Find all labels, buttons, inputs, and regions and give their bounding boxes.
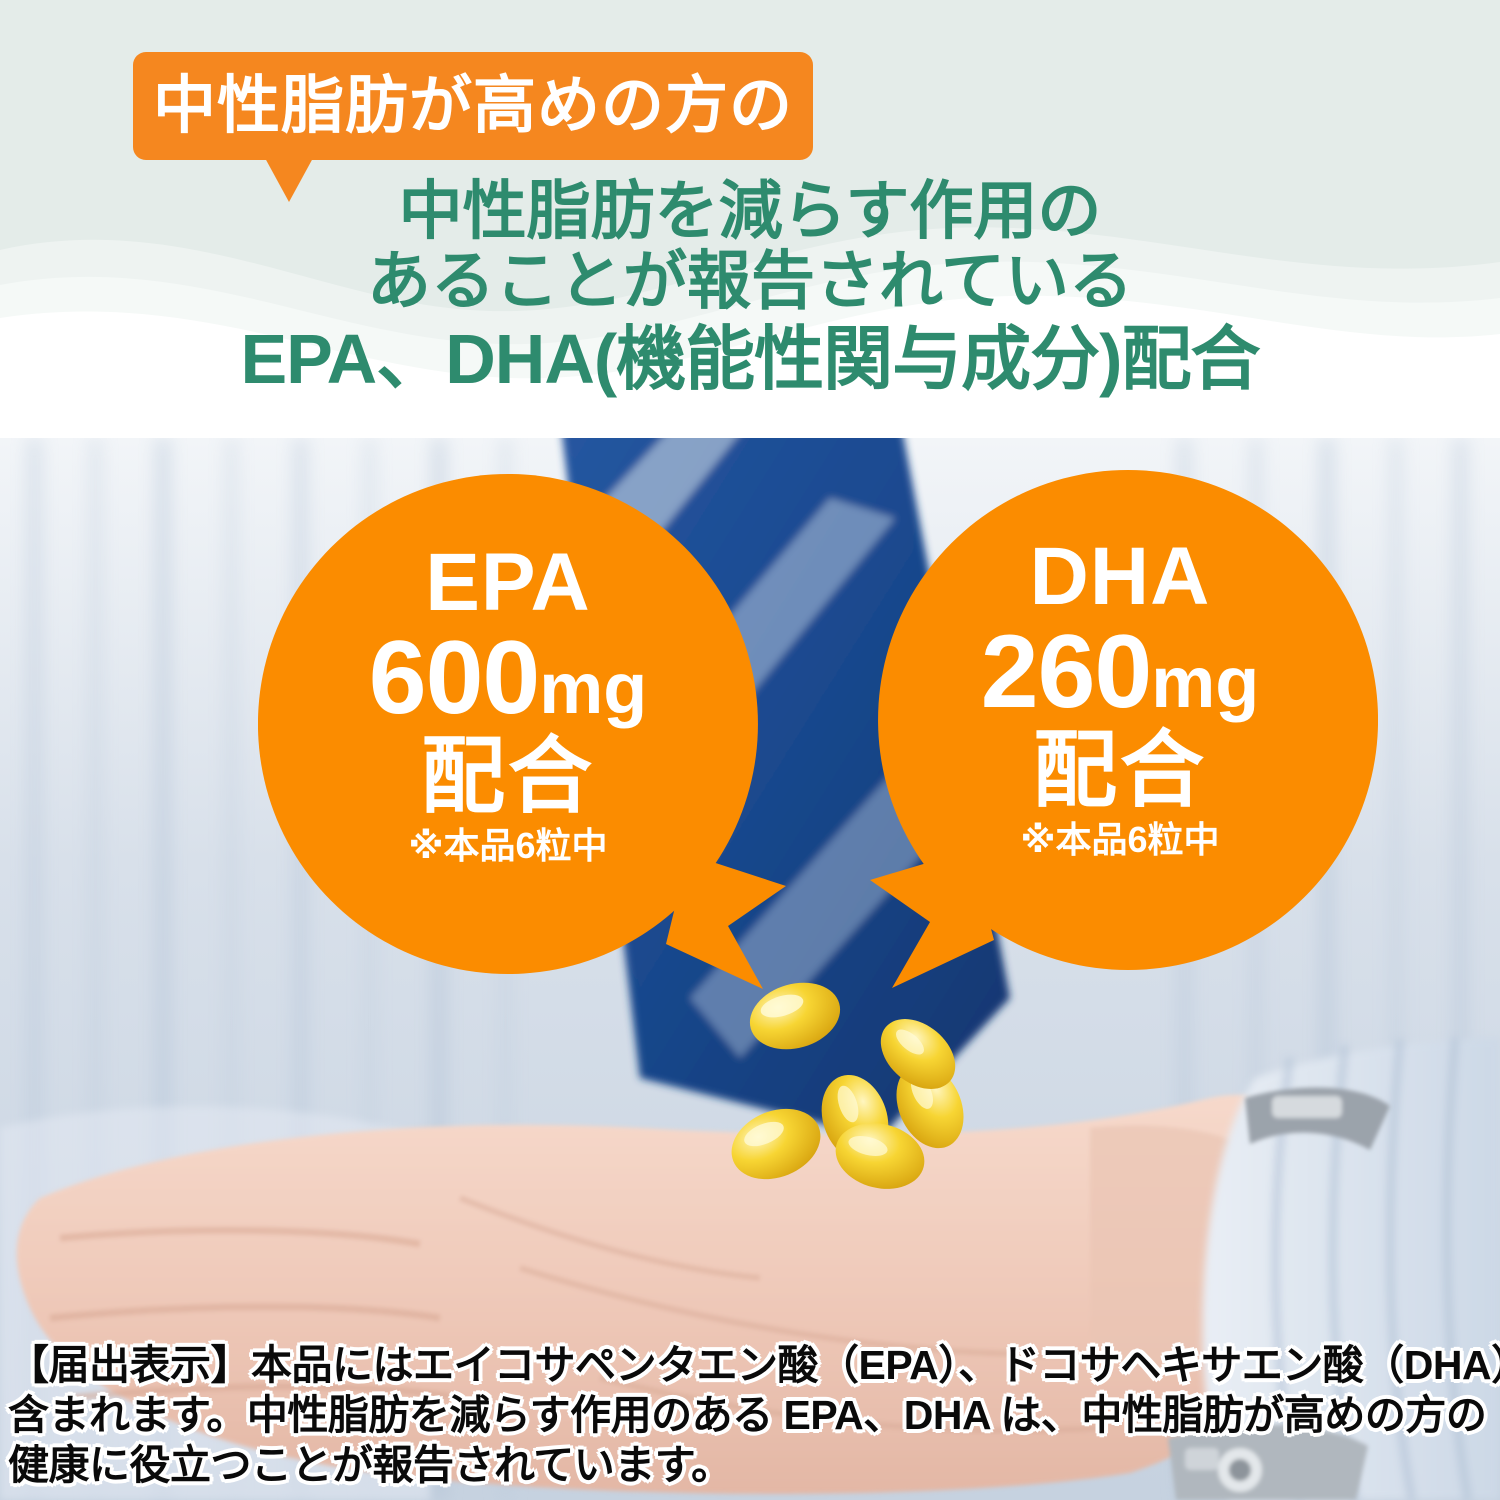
headline-line-1: 中性脂肪を減らす作用の — [0, 176, 1500, 246]
epa-bubble-content: EPA 600mg 配合 ※本品6粒中 — [258, 474, 758, 864]
epa-amount-label: 600mg — [258, 626, 758, 730]
headline-line-2: あることが報告されている — [0, 246, 1500, 316]
epa-note-label: ※本品6粒中 — [258, 828, 758, 864]
dha-note-label: ※本品6粒中 — [870, 822, 1370, 858]
epa-speech-bubble: EPA 600mg 配合 ※本品6粒中 — [258, 474, 788, 1004]
disclosure-line-2: 含まれます。中性脂肪を減らす作用のある EPA、DHA は、中性脂肪が高めの方の — [8, 1390, 1492, 1440]
epa-name-label: EPA — [258, 542, 758, 624]
ribbon-banner-tail-icon — [265, 158, 313, 202]
disclosure-line-1: 【届出表示】本品にはエイコサペンタエン酸（EPA）、ドコサヘキサエン酸（DHA）… — [8, 1340, 1492, 1390]
epa-haigo-label: 配合 — [258, 734, 758, 818]
ribbon-banner-label: 中性脂肪が高めの方の — [153, 75, 793, 138]
dha-name-label: DHA — [870, 536, 1370, 618]
page-title: 中性脂肪を減らす作用の あることが報告されている EPA、DHA(機能性関与成分… — [0, 176, 1500, 398]
dha-haigo-label: 配合 — [870, 728, 1370, 812]
dha-bubble-content: DHA 260mg 配合 ※本品6粒中 — [870, 470, 1370, 858]
headline-line-3: EPA、DHA(機能性関与成分)配合 — [0, 321, 1500, 398]
dha-speech-bubble: DHA 260mg 配合 ※本品6粒中 — [848, 470, 1378, 1000]
disclosure-line-3: 健康に役立つことが報告されています。 — [8, 1440, 1492, 1490]
dha-amount-label: 260mg — [870, 620, 1370, 724]
product-infographic: 中性脂肪が高めの方の 中性脂肪を減らす作用の あることが報告されている EPA、… — [0, 0, 1500, 1500]
headline-ribbon-banner: 中性脂肪が高めの方の — [133, 52, 813, 160]
regulatory-disclosure-text: 【届出表示】本品にはエイコサペンタエン酸（EPA）、ドコサヘキサエン酸（DHA）… — [0, 1340, 1500, 1500]
